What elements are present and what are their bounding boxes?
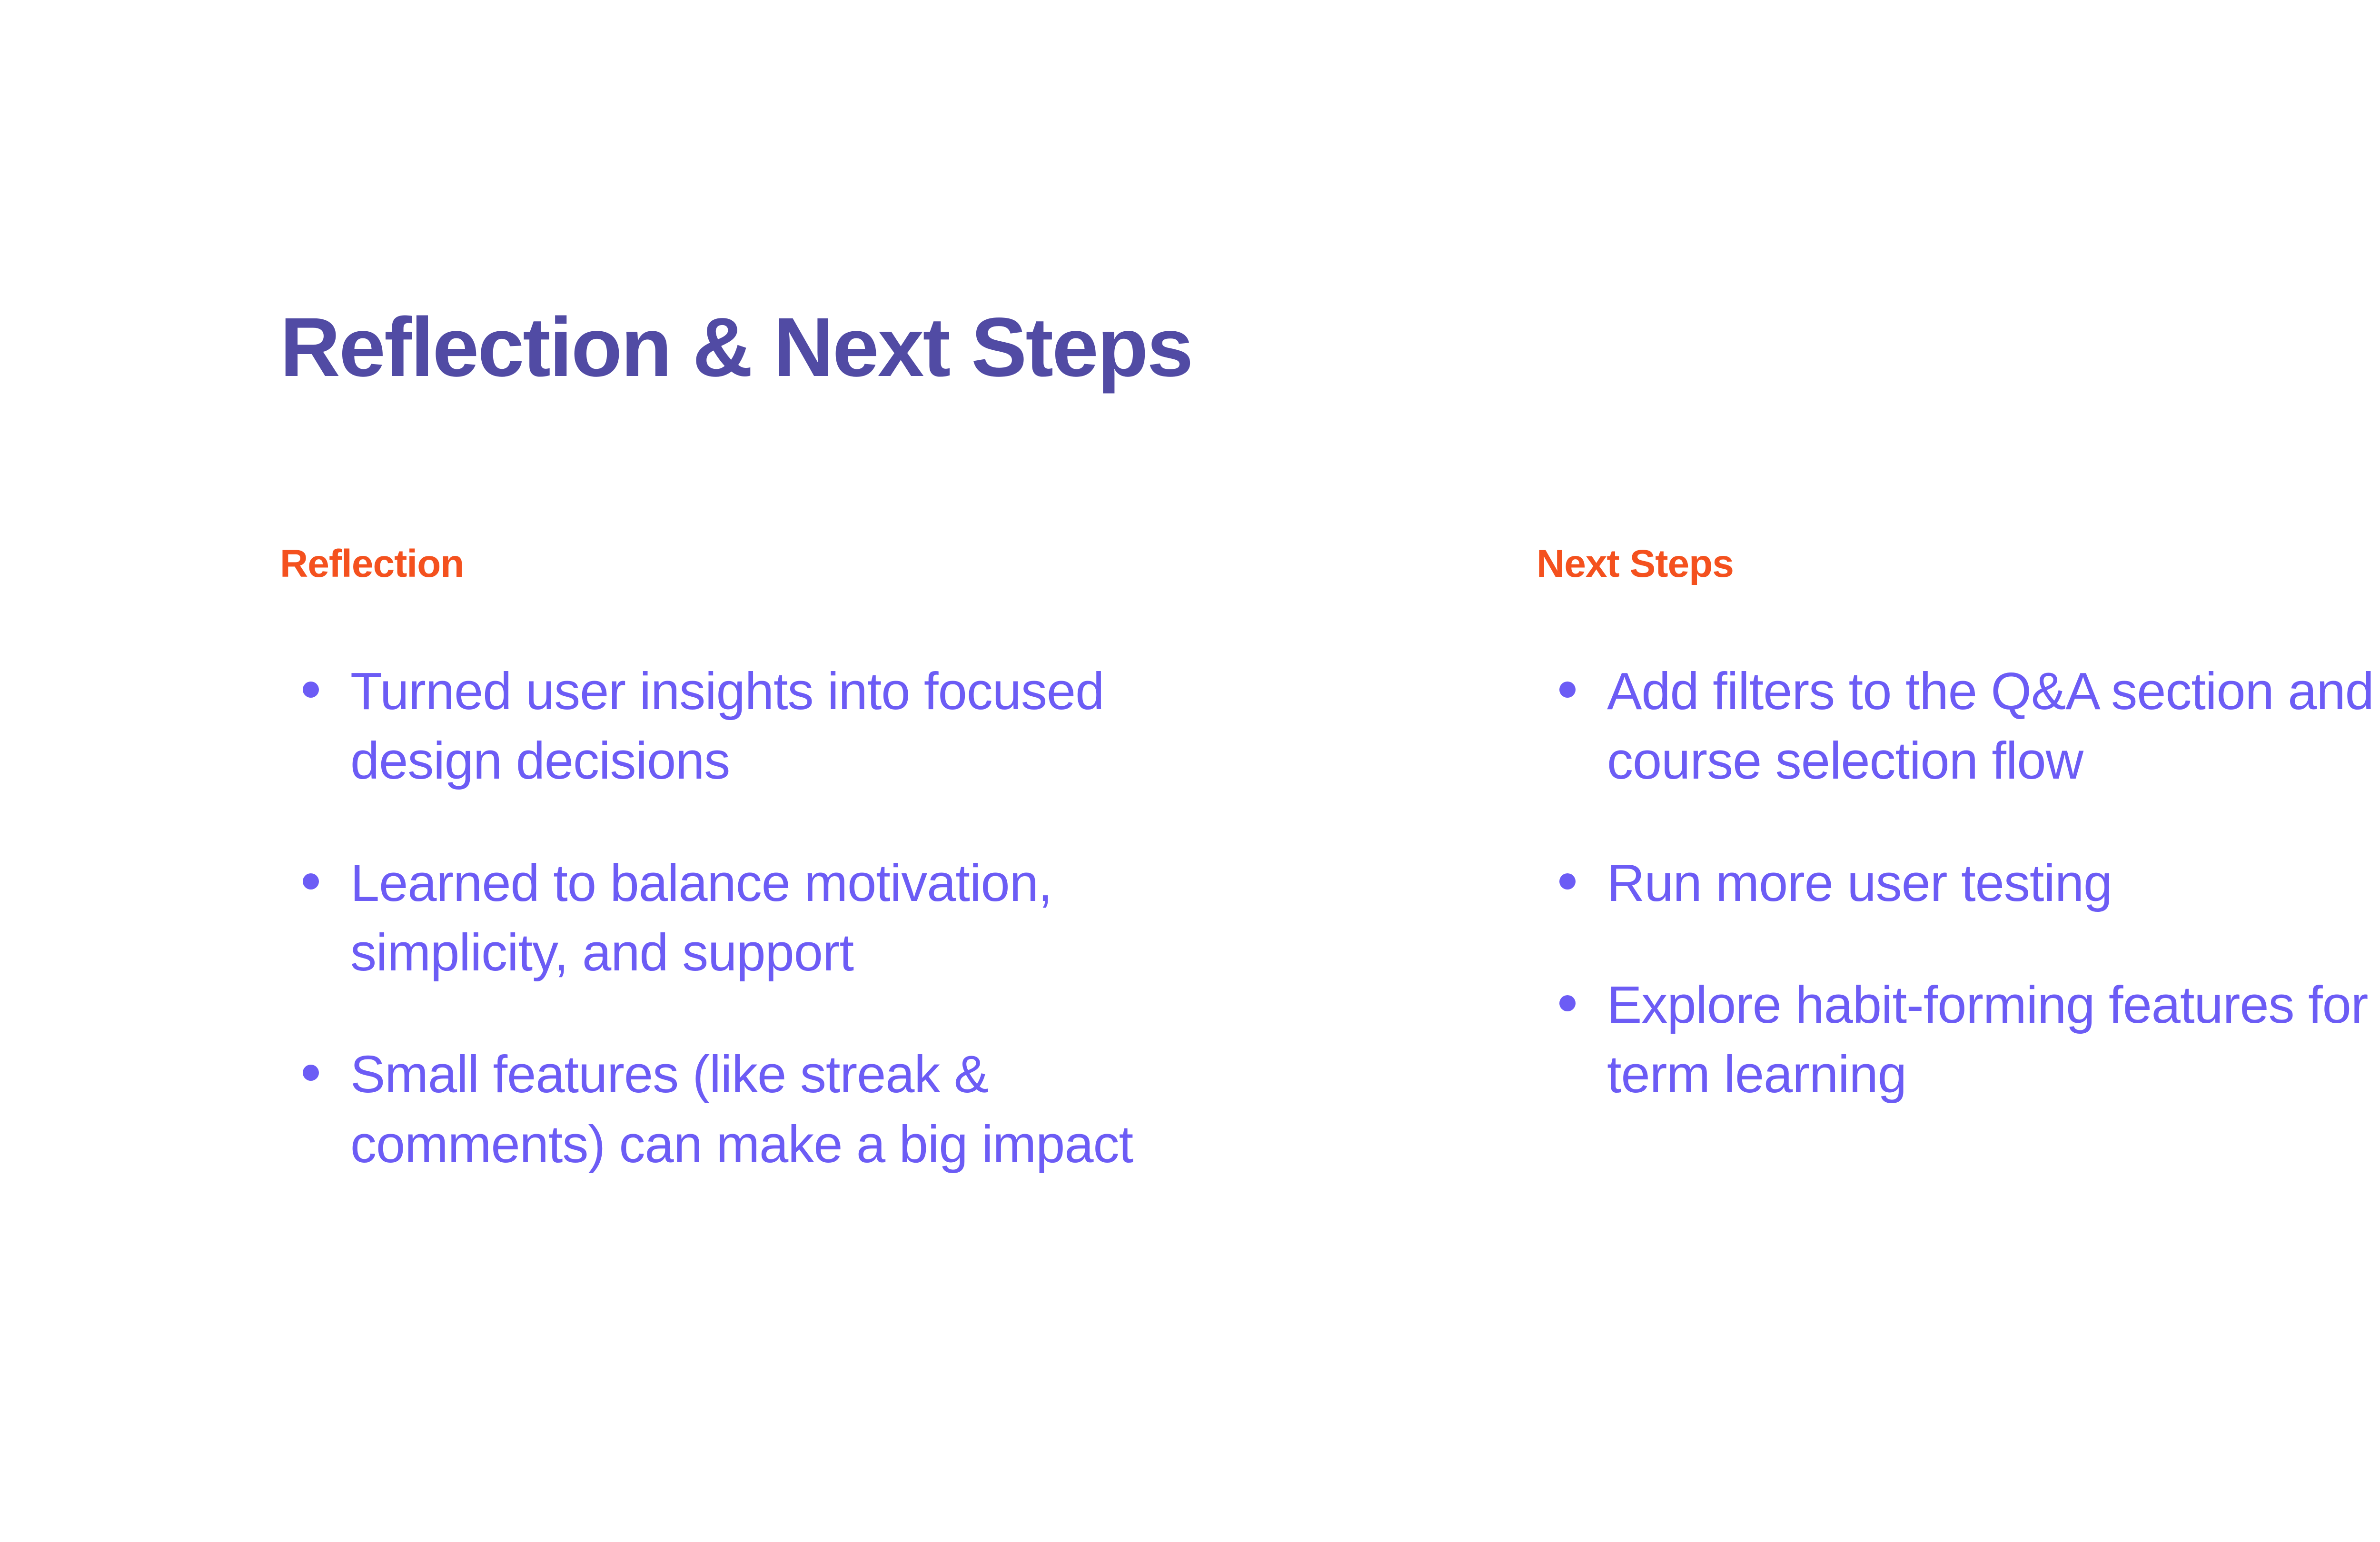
list-item-text: Run more user testing <box>1607 849 2380 918</box>
list-item-text: Small features (like streak & comments) … <box>350 1040 1241 1179</box>
list-item: Add filters to the Q&A section and cours… <box>1537 657 2380 796</box>
column-next-steps: Next Steps Add filters to the Q&A sectio… <box>1537 543 2380 1110</box>
list-item-text: Explore habit-forming features for long-… <box>1607 970 2380 1110</box>
page-title: Reflection & Next Steps <box>280 304 1192 392</box>
bullet-list-next-steps: Add filters to the Q&A section and cours… <box>1537 657 2380 1109</box>
bullet-dot-icon <box>303 682 319 698</box>
bullet-dot-icon <box>1559 682 1576 698</box>
column-heading-reflection: Reflection <box>280 543 1241 585</box>
list-item: Explore habit-forming features for long-… <box>1537 970 2380 1110</box>
list-item-text: Learned to balance motivation, simplicit… <box>350 849 1241 988</box>
bullet-dot-icon <box>303 873 319 890</box>
list-item: Run more user testing <box>1537 849 2380 918</box>
bullet-dot-icon <box>1559 873 1576 890</box>
content-columns: Reflection Turned user insights into foc… <box>280 543 2380 1179</box>
column-reflection: Reflection Turned user insights into foc… <box>280 543 1241 1179</box>
bullet-list-reflection: Turned user insights into focused design… <box>280 657 1241 1179</box>
bullet-dot-icon <box>303 1065 319 1081</box>
list-item-text: Add filters to the Q&A section and cours… <box>1607 657 2380 796</box>
list-item: Small features (like streak & comments) … <box>280 1040 1241 1179</box>
presentation-slide: Reflection & Next Steps Reflection Turne… <box>0 0 2380 1542</box>
list-item: Turned user insights into focused design… <box>280 657 1241 796</box>
bullet-dot-icon <box>1559 995 1576 1011</box>
list-item: Learned to balance motivation, simplicit… <box>280 849 1241 988</box>
list-item-text: Turned user insights into focused design… <box>350 657 1241 796</box>
column-heading-next-steps: Next Steps <box>1537 543 2380 585</box>
